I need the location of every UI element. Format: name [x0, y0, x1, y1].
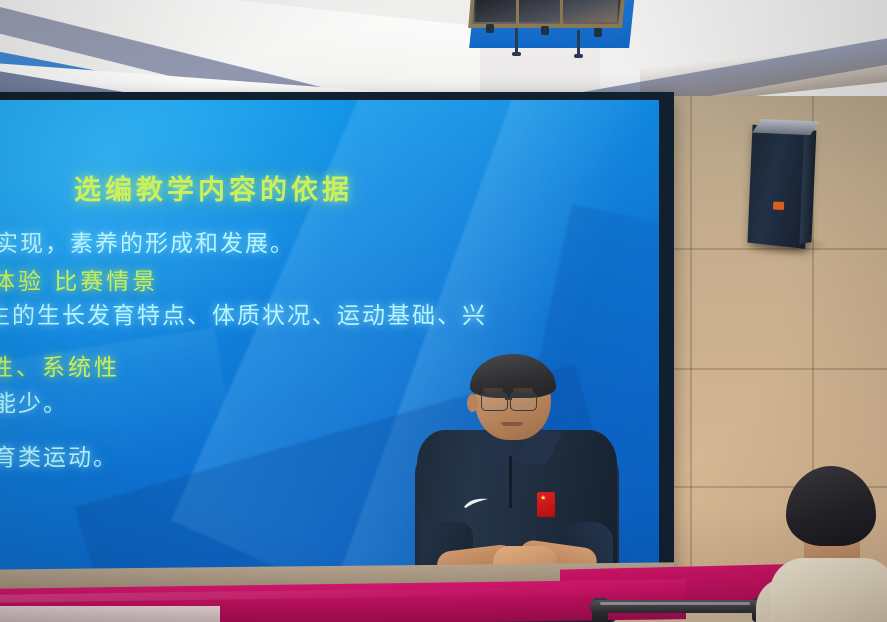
wall-seam-horizontal-2	[640, 368, 887, 370]
projector-frame-mullion-right	[560, 0, 563, 28]
slide-line-2: 整体验 比赛情景	[0, 262, 158, 296]
presenter-glasses-right-lens	[510, 392, 537, 411]
ceiling-fixture-nub-3	[594, 28, 602, 37]
ceiling-hanger-foot-1	[512, 52, 521, 56]
ceiling-fixture-nub-1	[486, 24, 494, 33]
slide-line-7: 体育类运动。	[0, 438, 118, 472]
slide-line-5: 不能少。	[0, 384, 68, 418]
ceiling-hanger-rod-1	[515, 28, 518, 54]
slide-line-1: 的实现，素养的形成和发展。	[0, 224, 295, 258]
wall-speaker	[747, 119, 819, 250]
projector-housing-glass	[475, 0, 620, 22]
wall-seam-vertical-1	[690, 96, 692, 586]
speaker-brand-logo-icon	[773, 202, 784, 210]
ceiling-fixture-nub-2	[541, 26, 549, 35]
flag-star-icon: ★	[540, 496, 545, 501]
audience-hair	[786, 466, 876, 546]
speaker-top-panel	[752, 119, 819, 135]
audience-member	[770, 466, 887, 622]
chair-rail-highlight	[600, 602, 750, 605]
slide-title: 选编教学内容的依据	[74, 168, 353, 207]
presenter-glasses-bridge	[505, 398, 512, 400]
presenter-glasses-left-lens	[481, 392, 508, 411]
slide-line-3: 学生的生长发育特点、体质状况、运动基础、兴	[0, 296, 487, 330]
projector-frame-mullion-left	[516, 0, 519, 28]
presenter-ear	[467, 394, 478, 412]
slide-line-4: 样性、系统性	[0, 348, 120, 382]
presenter-mouth	[501, 422, 523, 426]
ceiling-hanger-rod-2	[577, 30, 580, 56]
presenter-chest-logo-icon	[463, 496, 489, 507]
lecture-hall-scene: 选编教学内容的依据 的实现，素养的形成和发展。 整体验 比赛情景 学生的生长发育…	[0, 0, 887, 622]
presenter-flag-patch-icon: ★	[537, 492, 555, 517]
presenter-shirt-placket	[509, 456, 512, 508]
ceiling-hanger-foot-2	[574, 54, 583, 58]
front-table-left	[0, 606, 220, 622]
audience-shirt	[770, 558, 887, 622]
